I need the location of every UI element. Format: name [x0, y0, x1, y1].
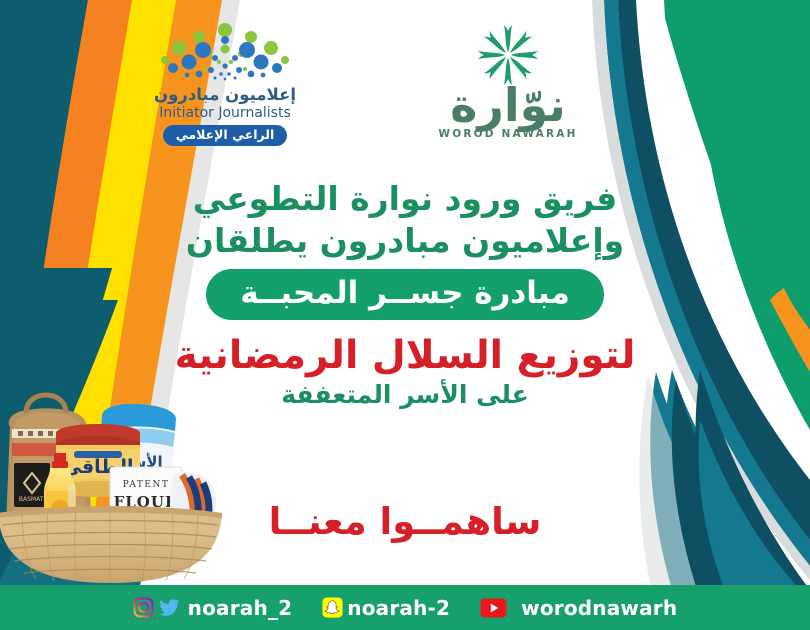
social-group-youtube[interactable]: worodnawarh: [480, 596, 677, 620]
cta-text: ساهمــوا معنــا: [0, 500, 810, 543]
instagram-icon[interactable]: [133, 597, 154, 618]
organizer-name-arabic: نوّارة: [408, 84, 608, 126]
snapchat-icon[interactable]: [322, 597, 343, 618]
social-group-snapchat[interactable]: noarah-2: [322, 596, 450, 620]
headline-block: فريق ورود نوارة التطوعي وإعلاميون مبادرو…: [0, 178, 810, 410]
social-handle-snapchat[interactable]: noarah-2: [347, 596, 450, 620]
social-group-instagram-twitter[interactable]: noarah_2: [133, 596, 293, 620]
sponsor-logo: إعلاميون مبادرون Initiator Journalists ا…: [140, 22, 310, 162]
social-handle-youtube[interactable]: worodnawarh: [521, 596, 677, 620]
youtube-icon[interactable]: [480, 598, 507, 618]
initiative-name-pill: مبادرة جســر المحبــة: [206, 269, 604, 321]
sponsor-badge: الراعي الإعلامي: [163, 125, 288, 146]
organizer-logo: نوّارة WOROD NAWARAH: [408, 24, 608, 164]
headline-green-subline: على الأسر المتعففة: [0, 380, 810, 410]
headline-line-2: وإعلاميون مبادرون يطلقان: [0, 220, 810, 262]
sponsor-name-arabic: إعلاميون مبادرون: [140, 86, 310, 104]
flower-star-logo: [471, 24, 545, 86]
poster-canvas: BASMATI الأسرة ALOSRA الطاقي PATENT FLOU…: [0, 0, 810, 630]
social-footer-bar: noarah_2 noarah-2 worodnawarh: [0, 585, 810, 630]
organizer-name-english: WOROD NAWARAH: [408, 128, 608, 140]
sponsor-name-english: Initiator Journalists: [140, 105, 310, 121]
social-handle-instagram-twitter[interactable]: noarah_2: [188, 596, 293, 620]
call-to-action: ساهمــوا معنــا: [0, 500, 810, 543]
crown-dots-logo: [145, 22, 305, 84]
logo-row: إعلاميون مبادرون Initiator Journalists ا…: [0, 0, 810, 170]
headline-line-1: فريق ورود نوارة التطوعي: [0, 178, 810, 220]
twitter-icon[interactable]: [159, 597, 180, 618]
ramadan-food-basket: BASMATI الأسرة ALOSRA الطاقي PATENT FLOU…: [0, 385, 232, 590]
svg-text:PATENT: PATENT: [123, 480, 170, 490]
headline-red-line: لتوزيع السلال الرمضانية: [0, 334, 810, 379]
